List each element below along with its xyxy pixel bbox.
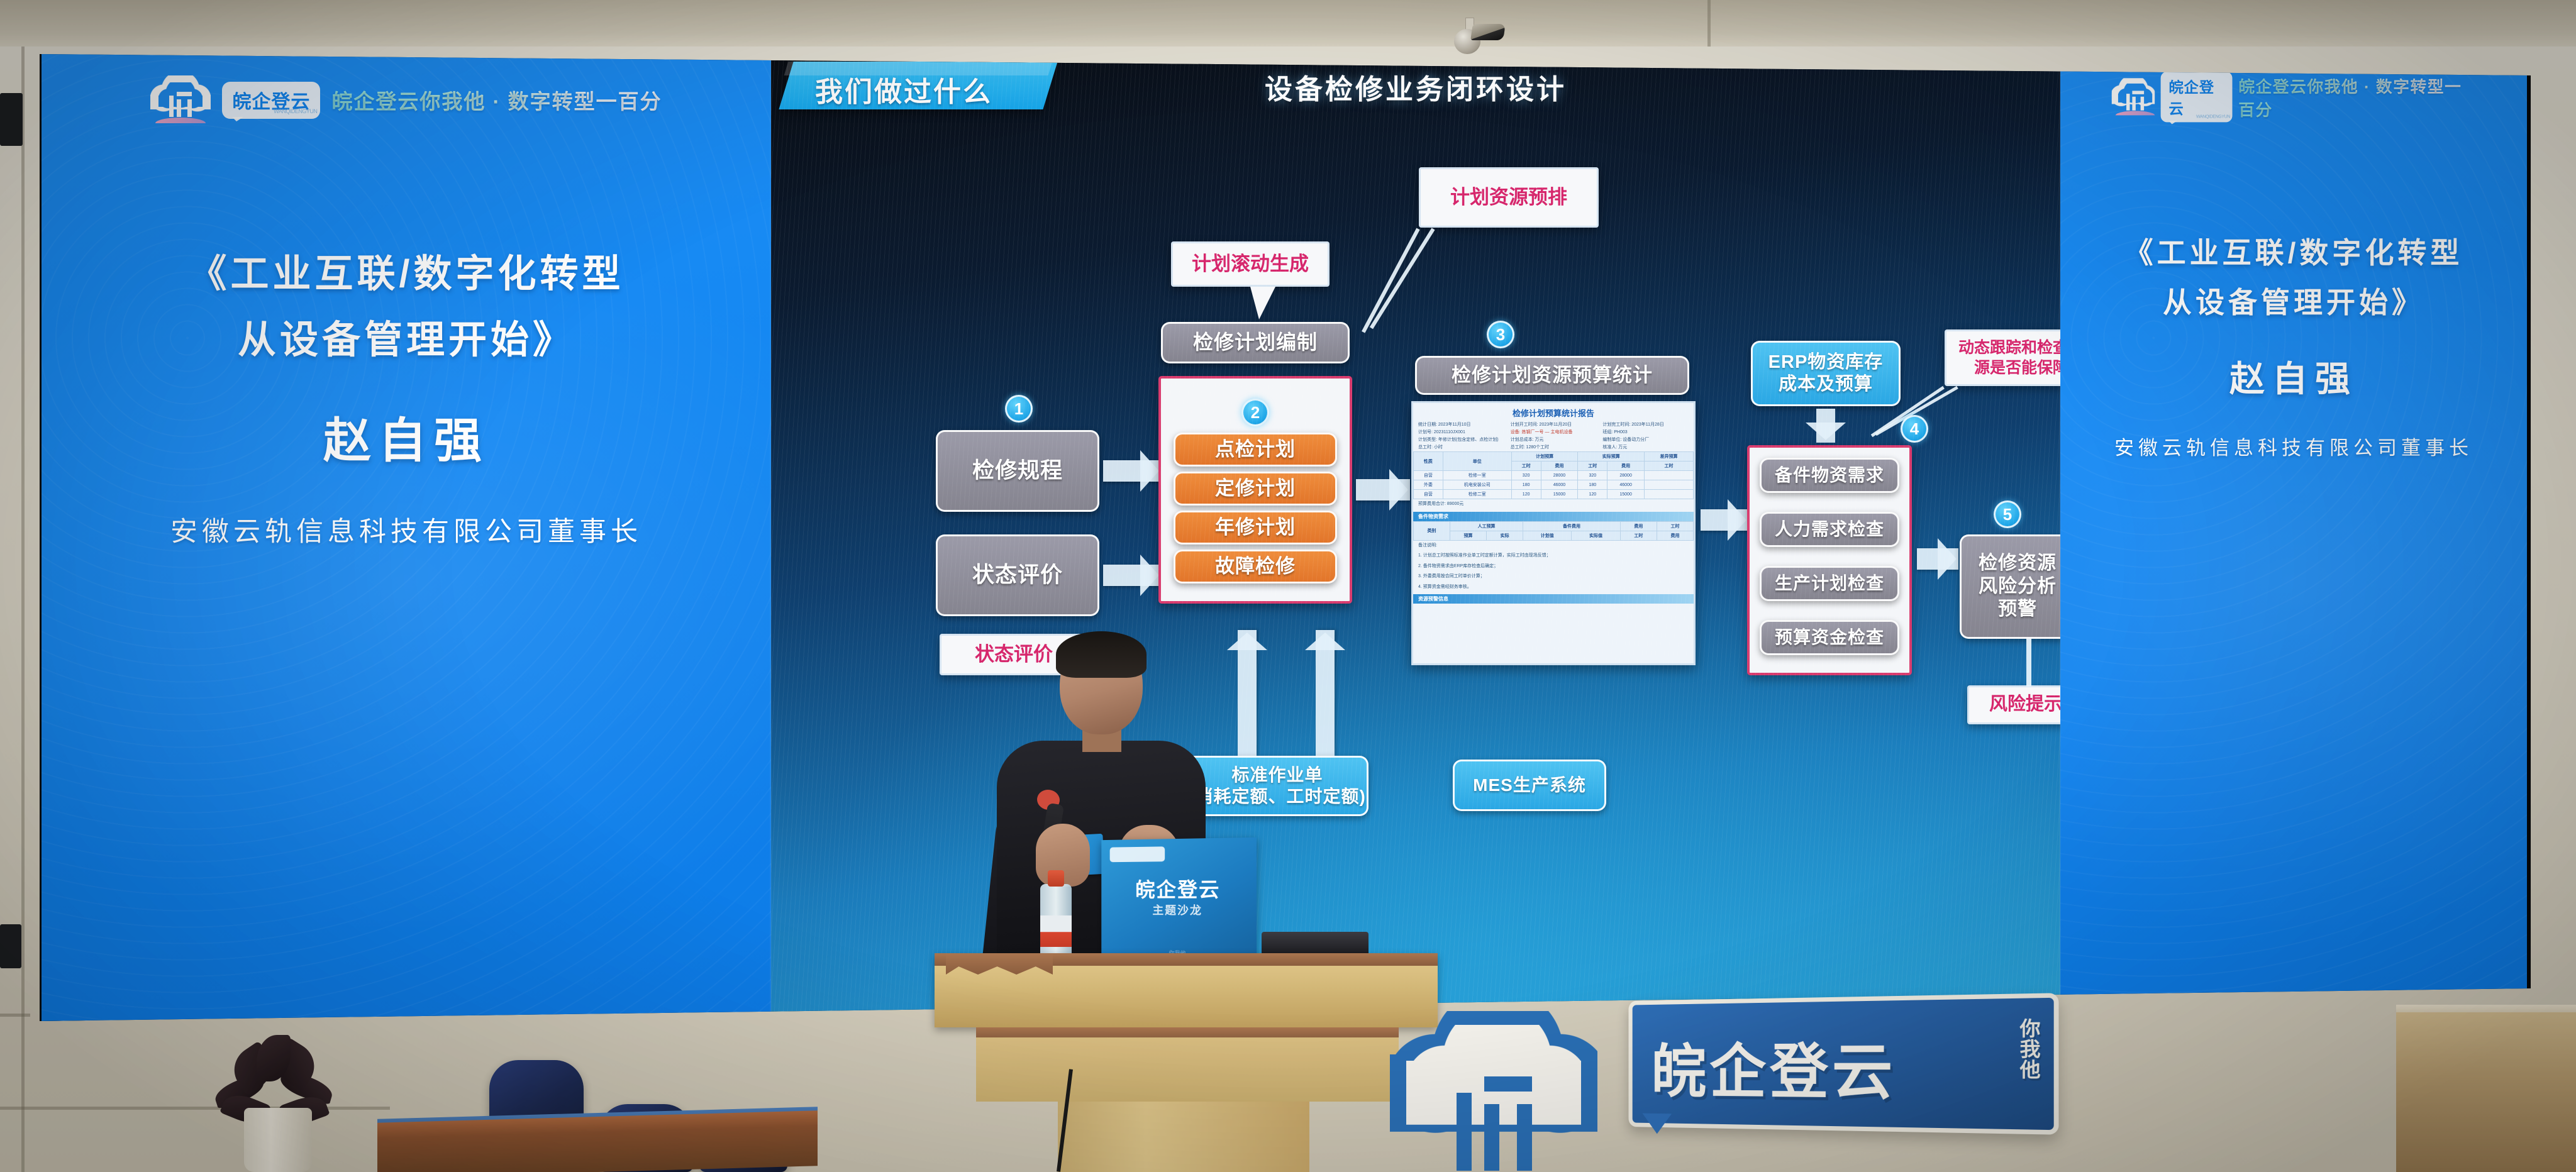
cell: 自营 [1414, 490, 1443, 499]
step-badge-1: 1 [1005, 395, 1033, 423]
arrow-check-to-risk [1917, 548, 1958, 570]
water-bottle [1040, 870, 1072, 965]
col-cost-actual: 费用 [1607, 462, 1645, 471]
risk-line1: 检修资源 [1979, 552, 2057, 575]
callout-leader2-resource-pre-scheduling [1370, 228, 1435, 329]
standard-work-order-line1: 标准作业单 [1231, 765, 1323, 786]
slide-title: 设备检修业务闭环设计 [771, 67, 2060, 107]
arrow-to-plan-group-top [1103, 460, 1161, 482]
logo-pill-sub: WANQIDENGYUN [274, 108, 317, 114]
col-category: 类别 [1414, 521, 1450, 540]
report-screenshot: 检修计划预算统计报告 统计日期: 2023年11月10日 计划开工时间: 202… [1411, 401, 1696, 665]
step-badge-3: 3 [1487, 321, 1514, 348]
title-panel-right: 皖企登云 WANQIDENGYUN 皖企登云你我他 · 数字转型一百分 《工业互… [2060, 45, 2527, 1021]
cloud-logo-icon [2112, 78, 2155, 116]
node-mes-production-system: MES生产系统 [1453, 760, 1606, 811]
brand-bar-right: 皖企登云 WANQIDENGYUN 皖企登云你我他 · 数字转型一百分 [2112, 72, 2476, 122]
table-subheader-row: 预算 实际 计划值 实际值 工时 费用 [1414, 531, 1694, 540]
cell: 自营 [1414, 471, 1443, 480]
front-table-right [2396, 1012, 2576, 1172]
podium-name-card: 皖企登云 主题沙龙 你我他 [1101, 838, 1257, 967]
wall-panel-box [0, 924, 21, 968]
report-note-line: 2. 备件物资需求由ERP库存检查后确定； [1413, 561, 1694, 572]
dynamic-tracking-line2: 源是否能保障 [1974, 358, 2068, 379]
col-hours: 工时 [1657, 521, 1693, 531]
step-badge-2: 2 [1241, 399, 1269, 426]
col-hours-planned: 工时 [1511, 462, 1541, 471]
table-group-header-row: 性质 单位 计划预算 实际预算 差异预算 [1414, 452, 1694, 462]
cell: 180 [1578, 480, 1607, 490]
speaker-name: 赵自强 [2229, 351, 2358, 402]
report-meta-row: 计划号: 20231110JX001 设备: 炼钢厂一号 — 主电机设备 班组:… [1413, 429, 1694, 436]
node-fault-repair: 故障检修 [1174, 550, 1337, 583]
report-note-line: 4. 预算资金需经财务审核。 [1413, 582, 1694, 593]
group-planned: 计划预算 [1511, 452, 1578, 462]
wooden-podium: 皖企登云 主题沙龙 你我他 [935, 953, 1438, 1172]
arrow-plan-to-budget [1356, 479, 1410, 500]
sign-cloud-logo-icon [1390, 1011, 1597, 1172]
podium-column [1058, 1102, 1309, 1172]
subcol: 计划值 [1523, 531, 1572, 540]
wall-seam [1707, 0, 1711, 47]
sign-plate: 皖企登云 你我他 [1629, 993, 2059, 1135]
podium-top [935, 953, 1438, 1027]
subcol: 工时 [1620, 531, 1657, 540]
bottle-label [1040, 915, 1072, 947]
cell: 120 [1511, 490, 1541, 499]
report-meta-cell: 编制单位: 设备动力分厂 [1602, 436, 1689, 443]
logo-pill-sub: WANQIDENGYUN [2196, 114, 2230, 119]
table-row: 自营 检修一室 320 28000 320 28000 [1414, 471, 1694, 480]
report-meta-row: 统计日期: 2023年11月10日 计划开工时间: 2023年11月20日 计划… [1413, 421, 1694, 429]
security-camera-icon [1450, 18, 1507, 55]
cell: 机电安装公司 [1443, 480, 1511, 490]
node-inspection-rules: 检修规程 [936, 430, 1099, 512]
cell: 28000 [1607, 471, 1645, 480]
report-meta-cell: 总工时: 1280个工时 [1511, 444, 1597, 450]
subcol: 费用 [1657, 531, 1693, 540]
report-meta-cell: 统计日期: 2023年11月10日 [1418, 421, 1504, 428]
subcol: 实际 [1487, 531, 1523, 540]
title-panel-left: 皖企登云 WANQIDENGYUN 皖企登云你我他 · 数字转型一百分 《工业互… [42, 45, 771, 1021]
cell: 320 [1578, 471, 1607, 480]
cell: 外委 [1414, 480, 1443, 490]
col-cost: 费用 [1620, 521, 1657, 531]
wall-seam [21, 47, 25, 1172]
group-actual: 实际预算 [1578, 452, 1645, 462]
subcol: 预算 [1450, 531, 1487, 540]
arrow-from-mes-to-plan [1316, 630, 1335, 756]
report-title: 检修计划预算统计报告 [1413, 403, 1694, 421]
logo-pill-text: 皖企登云 [2168, 75, 2224, 118]
led-video-wall: 皖企登云 WANQIDENGYUN 皖企登云你我他 · 数字转型一百分 《工业互… [30, 45, 2531, 1021]
brand-slogan: 皖企登云你我他 · 数字转型一百分 [2238, 74, 2475, 121]
report-meta-cell: 计划号: 20231110JX001 [1418, 429, 1504, 435]
sign-gate-glyph-icon [1457, 1076, 1532, 1171]
subcol: 实际值 [1572, 531, 1620, 540]
table-header-row: 类别 人工预算 备件费用 费用 工时 [1414, 521, 1694, 531]
node-production-plan-check: 生产计划检查 [1760, 566, 1899, 601]
cell: 320 [1511, 471, 1541, 480]
report-meta-cell: 计划总成本: 万元 [1511, 436, 1597, 443]
cell: 46000 [1541, 480, 1578, 490]
report-meta-row: 计划类型: 年修计划(包含定修、点检计划) 计划总成本: 万元 编制单位: 设备… [1413, 436, 1694, 444]
potted-plant [203, 1027, 347, 1172]
arrow-to-plan-group-bottom [1103, 565, 1161, 586]
camera-body [1470, 24, 1506, 40]
table-row: 外委 机电安装公司 180 46000 180 46000 [1414, 480, 1694, 490]
arrow-budget-to-check [1701, 509, 1748, 531]
presentation-slide: 我们做过什么 设备检修业务闭环设计 1 检修规程 状态评价 状态评价 计划滚动生… [771, 45, 2060, 1021]
speaker-name: 赵自强 [323, 402, 489, 471]
talk-title-line2: 从设备管理开始》 [2163, 280, 2424, 325]
report-meta-cell: 计划类型: 年修计划(包含定修、点检计划) [1418, 436, 1504, 443]
erp-line1: ERP物资库存 [1768, 351, 1884, 373]
col-labor-budget: 人工预算 [1450, 521, 1523, 531]
stage-brand-sign: 皖企登云 你我他 [1390, 997, 2075, 1172]
gate-glyph-icon [2126, 91, 2144, 110]
logo-pill: 皖企登云 WANQIDENGYUN [222, 82, 320, 119]
cell: 120 [1578, 490, 1607, 499]
cloud-logo-icon [150, 75, 211, 124]
sign-side-text: 你我他 [2017, 1018, 2039, 1080]
col-cost-planned: 费用 [1541, 462, 1578, 471]
brand-bar: 皖企登云 WANQIDENGYUN 皖企登云你我他 · 数字转型一百分 [150, 75, 662, 124]
cell: 15000 [1607, 490, 1645, 499]
col-unit: 单位 [1443, 452, 1511, 471]
node-spare-parts-demand: 备件物资需求 [1760, 458, 1899, 493]
report-meta-cell: 核准人: 万元 [1602, 444, 1689, 450]
cell [1645, 480, 1694, 490]
speaker-hair [1056, 631, 1146, 678]
plant-pot [244, 1108, 312, 1172]
col-parts-cost: 备件费用 [1523, 521, 1621, 531]
step-badge-4: 4 [1901, 415, 1928, 443]
report-meta-cell: 设备: 炼钢厂一号 — 主电机设备 [1511, 429, 1597, 435]
talk-title-line2: 从设备管理开始》 [238, 310, 575, 370]
logo-pill: 皖企登云 WANQIDENGYUN [2161, 72, 2233, 122]
name-card-subtitle: 主题沙龙 [1101, 902, 1257, 919]
name-card-logo [1110, 846, 1165, 862]
talk-title-line1: 《工业互联/数字化转型 [189, 244, 625, 304]
sign-main-text: 皖企登云 [1652, 1022, 1897, 1112]
node-erp-inventory-cost-budget: ERP物资库存 成本及预算 [1751, 341, 1901, 406]
report-note-line: 1. 计划总工时按照标准作业单工时定额计算，实际工时由现场反馈； [1413, 551, 1694, 561]
callout-resource-pre-scheduling: 计划资源预排 [1419, 167, 1599, 228]
talk-title-line1: 《工业互联/数字化转型 [2124, 231, 2463, 275]
node-condition-assessment: 状态评价 [936, 534, 1099, 616]
cell: 46000 [1607, 480, 1645, 490]
arrow-from-standard-work-order [1238, 630, 1257, 756]
podium-notch-trim [946, 953, 1053, 975]
table-row: 自营 检修二室 120 15000 120 15000 [1414, 490, 1694, 499]
erp-line2: 成本及预算 [1779, 373, 1873, 395]
callout-rolling-plan-generation: 计划滚动生成 [1171, 241, 1330, 287]
report-meta-cell: 计划完工时间: 2023年11月28日 [1602, 421, 1689, 428]
node-risk-analysis-alert: 检修资源 风险分析 预警 [1960, 534, 2075, 639]
report-section3-title: 资源预警信息 [1413, 594, 1694, 604]
arrow-erp-to-check [1816, 409, 1835, 443]
led-panel-seam [2059, 45, 2061, 1021]
speaker-org: 安徽云轨信息科技有限公司董事长 [170, 510, 642, 549]
risk-line2: 风险分析 [1979, 575, 2057, 599]
report-meta-cell: 计划开工时间: 2023年11月20日 [1511, 421, 1597, 428]
cell: 检修二室 [1443, 490, 1511, 499]
report-notes-label: 备注说明: [1413, 541, 1694, 551]
callout-tail-rolling-plan [1250, 287, 1275, 319]
led-panel-seam [770, 45, 772, 1021]
cell: 检修一室 [1443, 471, 1511, 480]
group-variance: 差异预算 [1645, 452, 1694, 462]
risk-line3: 预警 [1998, 598, 2037, 621]
cell: 180 [1511, 480, 1541, 490]
podium-mid-lip [976, 1027, 1399, 1037]
cell: 15000 [1541, 490, 1578, 499]
col-nature: 性质 [1414, 452, 1443, 471]
conference-room: 皖企登云 WANQIDENGYUN 皖企登云你我他 · 数字转型一百分 《工业互… [0, 0, 2576, 1172]
bottle-cap [1048, 870, 1064, 887]
callout-stem-risk-prompt [2026, 639, 2031, 687]
node-budget-funds-check: 预算资金检查 [1760, 620, 1899, 655]
report-section2-table: 类别 人工预算 备件费用 费用 工时 预算 实际 计划值 实际值 工时 费用 [1413, 521, 1694, 541]
report-meta-row: 总工时: 小时 总工时: 1280个工时 核准人: 万元 [1413, 444, 1694, 451]
gate-glyph-icon [169, 92, 192, 117]
cell [1645, 471, 1694, 480]
report-total-note: 预算费用合计: 89000元 [1413, 499, 1694, 510]
node-manpower-check: 人力需求检查 [1760, 512, 1899, 547]
node-annual-repair-plan: 年修计划 [1174, 511, 1337, 545]
speaker-org: 安徽云轨信息科技有限公司董事长 [2114, 432, 2473, 460]
report-meta-cell: 总工时: 小时 [1418, 444, 1504, 450]
node-spot-check-plan: 点检计划 [1174, 433, 1337, 467]
col-hours-variance: 工时 [1645, 462, 1694, 471]
ceiling-strip [0, 0, 2576, 47]
name-card-title: 皖企登云 [1101, 873, 1257, 903]
node-budget-statistics: 检修计划资源预算统计 [1415, 356, 1689, 395]
wall-seam [0, 1014, 30, 1017]
report-budget-table: 性质 单位 计划预算 实际预算 差异预算 工时 费用 工时 费用 工时 [1413, 451, 1694, 499]
podium-mid [976, 1027, 1399, 1102]
step-badge-5: 5 [1994, 500, 2021, 528]
col-hours-actual: 工时 [1578, 462, 1607, 471]
report-note-line: 3. 外委费用按合同工时单价计算； [1413, 572, 1694, 582]
report-section2-title: 备件物资需求 [1413, 512, 1694, 521]
node-scheduled-repair-plan: 定修计划 [1174, 472, 1337, 506]
wall-panel-box [0, 93, 23, 146]
node-plan-preparation: 检修计划编制 [1161, 322, 1350, 363]
cell: 28000 [1541, 471, 1578, 480]
cell [1645, 490, 1694, 499]
brand-slogan: 皖企登云你我他 · 数字转型一百分 [331, 85, 662, 115]
callout-leader-resource-pre-scheduling [1362, 228, 1420, 333]
report-meta-cell: 班组: PH003 [1602, 429, 1689, 435]
